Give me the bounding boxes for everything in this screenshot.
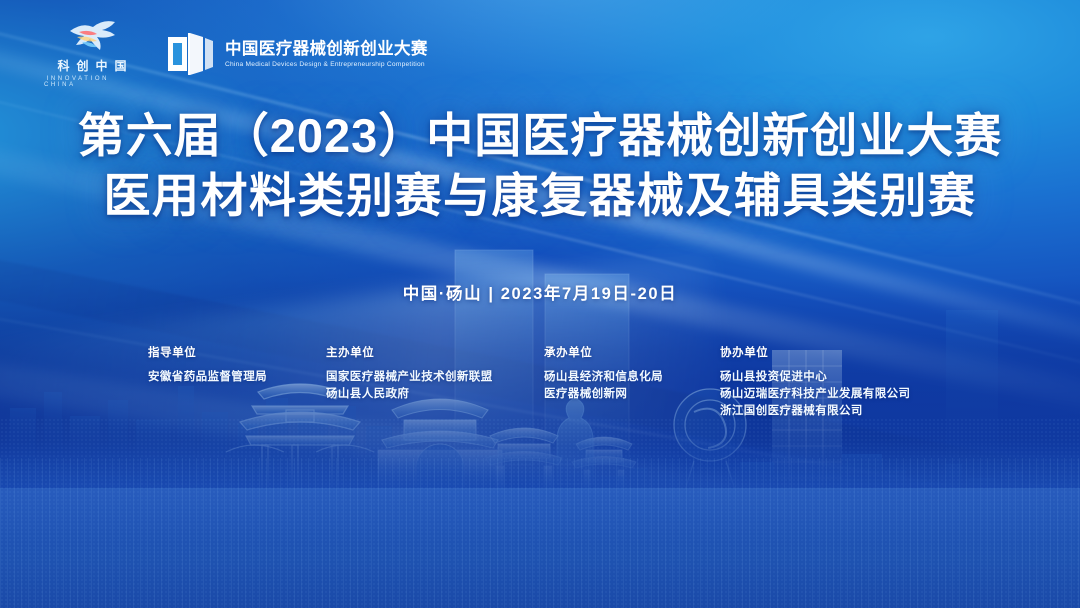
conference-banner: 科创中国 INNOVATION CHINA 中国医疗器械创新创业大赛 China… [0,0,1080,608]
organizer-column-host: 主办单位 国家医疗器械产业技术创新联盟 砀山县人民政府 [326,344,544,420]
organizer-role: 承办单位 [544,344,720,360]
organizer-columns: 指导单位 安徽省药品监督管理局 主办单位 国家医疗器械产业技术创新联盟 砀山县人… [148,344,978,420]
organizer-column-guidance: 指导单位 安徽省药品监督管理局 [148,344,326,420]
logo-bar: 科创中国 INNOVATION CHINA 中国医疗器械创新创业大赛 China… [44,20,428,88]
organizer-unit: 砀山县人民政府 [326,386,544,403]
cmd-logo-cn: 中国医疗器械创新创业大赛 [225,40,428,58]
title-line-1: 第六届（2023）中国医疗器械创新创业大赛 [0,106,1080,166]
organizer-role: 协办单位 [720,344,978,360]
logo-kechuang-zhongguo: 科创中国 INNOVATION CHINA [44,20,140,88]
organizer-unit: 国家医疗器械产业技术创新联盟 [326,369,544,386]
organizer-role: 指导单位 [148,344,326,360]
title-line-2: 医用材料类别赛与康复器械及辅具类别赛 [0,166,1080,226]
dove-emblem-icon [65,20,119,54]
event-location-date: 中国·砀山 | 2023年7月19日-20日 [0,280,1080,304]
organizer-role: 主办单位 [326,344,544,360]
ground-reflection [0,488,1080,608]
cmd-logo-en: China Medical Devices Design & Entrepren… [225,61,428,68]
organizer-unit: 砀山县投资促进中心 [720,369,978,386]
organizer-unit: 砀山迈瑞医疗科技产业发展有限公司 [720,386,978,403]
organizer-unit: 浙江国创医疗器械有限公司 [720,403,978,420]
logo-cmd-competition: 中国医疗器械创新创业大赛 China Medical Devices Desig… [166,31,428,77]
organizer-column-organizer: 承办单位 砀山县经济和信息化局 医疗器械创新网 [544,344,720,420]
organizer-unit: 砀山县经济和信息化局 [544,369,720,386]
open-door-mark-icon [166,31,214,77]
organizer-column-coorganizer: 协办单位 砀山县投资促进中心 砀山迈瑞医疗科技产业发展有限公司 浙江国创医疗器械… [720,344,978,420]
organizer-unit: 医疗器械创新网 [544,386,720,403]
title-block: 第六届（2023）中国医疗器械创新创业大赛 医用材料类别赛与康复器械及辅具类别赛 [0,106,1080,226]
kechuang-logo-en: INNOVATION CHINA [44,76,140,88]
organizer-unit: 安徽省药品监督管理局 [148,369,326,386]
kechuang-logo-cn: 科创中国 [50,57,133,74]
